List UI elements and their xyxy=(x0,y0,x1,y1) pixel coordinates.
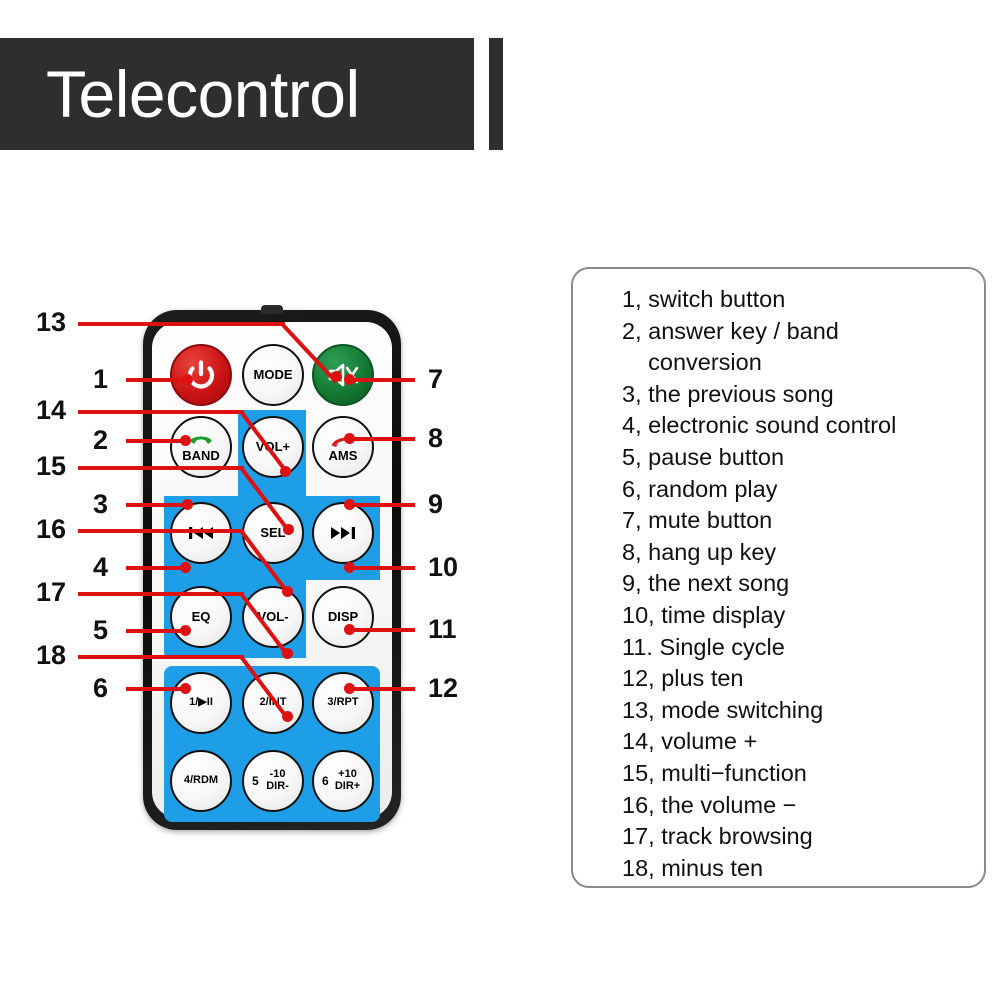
legend-item: 1, switch button xyxy=(622,284,992,316)
legend-item: 7, mute button xyxy=(622,505,992,537)
callout-line-11 xyxy=(348,628,415,632)
mode-button-label: MODE xyxy=(254,368,293,381)
callout-number-10: 10 xyxy=(428,554,458,581)
callout-dot-15 xyxy=(283,524,294,535)
key-1-play-pause[interactable]: 1/▶II xyxy=(170,672,232,734)
callout-number-18: 18 xyxy=(36,642,66,669)
callout-line-5 xyxy=(126,629,186,633)
title-accent-bar xyxy=(489,38,503,150)
legend-item: 13, mode switching xyxy=(622,695,992,727)
display-button-label: DISP xyxy=(328,610,358,623)
callout-line-14 xyxy=(78,410,244,414)
callout-number-15: 15 xyxy=(36,453,66,480)
callout-line-3 xyxy=(126,503,188,507)
callout-dot-8 xyxy=(344,433,355,444)
key-5-minus-ten[interactable]: 5 -10 DIR- xyxy=(242,750,304,812)
callout-number-17: 17 xyxy=(36,579,66,606)
legend-item: 2, answer key / band conversion xyxy=(622,316,992,379)
legend-item: 5, pause button xyxy=(622,442,992,474)
callout-dot-6 xyxy=(180,683,191,694)
legend-item: 9, the next song xyxy=(622,568,992,600)
callout-line-12 xyxy=(348,687,415,691)
eq-button-label: EQ xyxy=(192,610,211,623)
callout-number-12: 12 xyxy=(428,675,458,702)
callout-dot-7 xyxy=(344,374,355,385)
key-5-number: 5 xyxy=(252,775,259,787)
callout-dot-14 xyxy=(280,466,291,477)
next-track-button[interactable] xyxy=(312,502,374,564)
callout-line-10 xyxy=(348,566,415,570)
callout-line-18 xyxy=(78,655,244,659)
key-4-random[interactable]: 4/RDM xyxy=(170,750,232,812)
callout-line-2 xyxy=(126,439,186,443)
key-6-number: 6 xyxy=(322,775,329,787)
title-banner: Telecontrol xyxy=(0,38,474,150)
phone-answer-icon xyxy=(188,432,214,448)
key-6-plus-ten[interactable]: 6 +10 DIR+ xyxy=(312,750,374,812)
callout-dot-12 xyxy=(344,683,355,694)
callout-dot-18 xyxy=(282,711,293,722)
legend-item: 18, minus ten xyxy=(622,853,992,885)
callout-dot-11 xyxy=(344,624,355,635)
ams-button-label: AMS xyxy=(329,449,358,462)
callout-dot-4 xyxy=(180,562,191,573)
band-button-label: BAND xyxy=(182,449,220,462)
callout-number-3: 3 xyxy=(93,491,108,518)
key-1-label: 1/▶II xyxy=(189,697,213,708)
key-4-label: 4/RDM xyxy=(184,775,218,786)
ir-emitter xyxy=(261,305,283,314)
callout-number-6: 6 xyxy=(93,675,108,702)
legend-item: 4, electronic sound control xyxy=(622,410,992,442)
callout-line-1 xyxy=(126,378,188,382)
callout-number-16: 16 xyxy=(36,516,66,543)
select-button-label: SEL xyxy=(260,526,285,539)
callout-dot-13 xyxy=(331,371,342,382)
callout-dot-16 xyxy=(282,586,293,597)
mute-button[interactable] xyxy=(312,344,374,406)
legend-item: 17, track browsing xyxy=(622,821,992,853)
legend-item: 15, multi−function xyxy=(622,758,992,790)
legend-item: 16, the volume − xyxy=(622,790,992,822)
legend-item: 14, volume + xyxy=(622,726,992,758)
callout-number-4: 4 xyxy=(93,554,108,581)
legend-item: 6, random play xyxy=(622,474,992,506)
callout-line-7 xyxy=(348,378,415,382)
callout-line-9 xyxy=(348,503,415,507)
callout-number-2: 2 xyxy=(93,427,108,454)
key-5-line2: DIR- xyxy=(266,781,289,793)
callout-number-7: 7 xyxy=(428,366,443,393)
callout-number-13: 13 xyxy=(36,309,66,336)
page-title: Telecontrol xyxy=(46,61,360,127)
mode-button[interactable]: MODE xyxy=(242,344,304,406)
legend-item: 3, the previous song xyxy=(622,379,992,411)
callout-dot-9 xyxy=(344,499,355,510)
legend-list: 1, switch button2, answer key / band con… xyxy=(622,284,992,884)
callout-line-13 xyxy=(78,322,285,326)
callout-number-11: 11 xyxy=(428,616,457,643)
previous-track-icon xyxy=(186,524,216,542)
callout-number-14: 14 xyxy=(36,397,66,424)
legend-item: 8, hang up key xyxy=(622,537,992,569)
callout-dot-17 xyxy=(282,648,293,659)
previous-track-button[interactable] xyxy=(170,502,232,564)
callout-dot-10 xyxy=(344,562,355,573)
key-6-line2: DIR+ xyxy=(335,781,360,793)
legend-item: 10, time display xyxy=(622,600,992,632)
callout-number-9: 9 xyxy=(428,491,443,518)
callout-line-15 xyxy=(78,466,244,470)
callout-dot-5 xyxy=(180,625,191,636)
callout-dot-3 xyxy=(182,499,193,510)
callout-line-4 xyxy=(126,566,186,570)
callout-line-8 xyxy=(348,437,415,441)
callout-line-16 xyxy=(78,529,244,533)
key-3-repeat[interactable]: 3/RPT xyxy=(312,672,374,734)
ams-hangup-button[interactable]: AMS xyxy=(312,416,374,478)
callout-number-8: 8 xyxy=(428,425,443,452)
power-button[interactable] xyxy=(170,344,232,406)
legend-item: 11. Single cycle xyxy=(622,632,992,664)
key-3-label: 3/RPT xyxy=(327,697,358,708)
callout-dot-2 xyxy=(180,435,191,446)
next-track-icon xyxy=(328,524,358,542)
legend-item: 12, plus ten xyxy=(622,663,992,695)
callout-dot-1 xyxy=(182,374,193,385)
callout-number-5: 5 xyxy=(93,617,108,644)
callout-line-6 xyxy=(126,687,186,691)
display-button[interactable]: DISP xyxy=(312,586,374,648)
callout-line-17 xyxy=(78,592,244,596)
callout-number-1: 1 xyxy=(93,366,108,393)
